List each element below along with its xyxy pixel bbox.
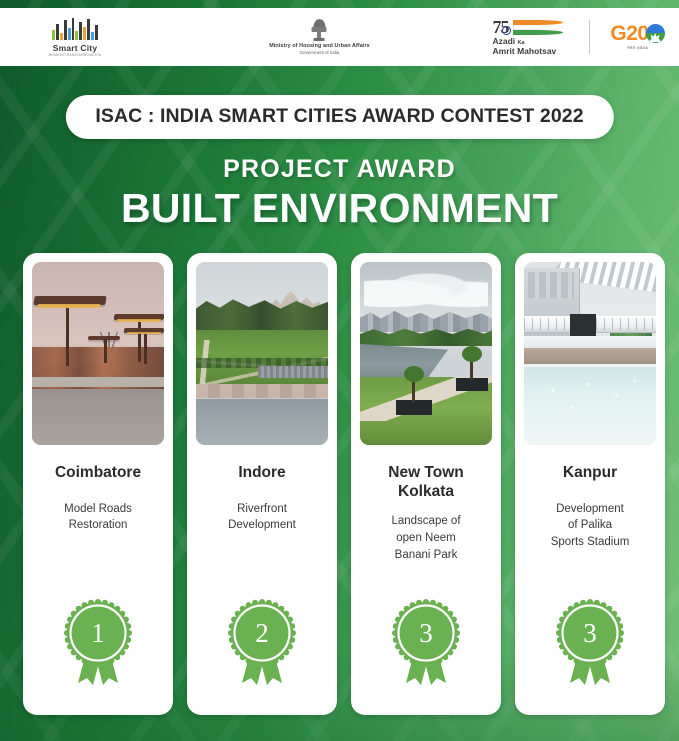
winner-card-list: Coimbatore Model Roads Restoration xyxy=(23,253,665,715)
award-category-title: BUILT ENVIRONMENT xyxy=(0,185,679,232)
winner-project-description: Development of Palika Sports Stadium xyxy=(547,501,634,551)
winner-project-description: Model Roads Restoration xyxy=(60,501,136,534)
g20-wordmark: G20 xyxy=(610,23,648,44)
ashoka-chakra-icon xyxy=(502,26,511,35)
smart-city-mission-logo: Smart City MISSION TRANSFORM-NATION xyxy=(0,18,150,57)
header-logo-bar: Smart City MISSION TRANSFORM-NATION Mini… xyxy=(0,8,679,66)
winner-city-name: Indore xyxy=(238,464,285,483)
azadi-ka-amrit-mahotsav-logo: 75 Azadi Ka Amrit Mahotsav xyxy=(493,18,579,57)
award-title-block: PROJECT AWARD BUILT ENVIRONMENT xyxy=(0,155,679,232)
contest-title-text: ISAC : INDIA SMART CITIES AWARD CONTEST … xyxy=(95,105,583,128)
azadi-label: Azadi xyxy=(493,36,516,46)
smart-city-icon xyxy=(52,18,98,42)
ministry-name: Ministry of Housing and Urban Affairs xyxy=(269,43,370,49)
tricolour-flag-icon xyxy=(513,19,563,36)
logo-divider xyxy=(589,20,590,54)
right-logo-group: 75 Azadi Ka Amrit Mahotsav xyxy=(489,18,679,57)
mahotsav-label: Mahotsav xyxy=(517,46,556,56)
rank-badge: 1 xyxy=(62,599,134,685)
smart-city-logo-title: Smart City xyxy=(53,43,98,53)
award-kicker: PROJECT AWARD xyxy=(0,155,679,184)
winner-city-name: New Town Kolkata xyxy=(388,464,464,501)
g20-india-logo: G20 भारत INDIA xyxy=(600,23,676,51)
winner-city-name: Kanpur xyxy=(563,464,617,483)
rank-badge: 3 xyxy=(554,599,626,685)
winner-card[interactable]: Coimbatore Model Roads Restoration xyxy=(23,253,173,715)
winner-city-name: Coimbatore xyxy=(55,464,141,483)
coimbatore-model-road-photo xyxy=(32,262,164,445)
rank-number: 3 xyxy=(390,613,462,653)
ashoka-emblem-icon xyxy=(311,19,328,41)
indore-riverfront-photo xyxy=(196,262,328,445)
smart-city-logo-subtitle: MISSION TRANSFORM-NATION xyxy=(49,53,102,57)
contest-title-pill: ISAC : INDIA SMART CITIES AWARD CONTEST … xyxy=(65,95,613,139)
winner-project-description: Riverfront Development xyxy=(224,501,300,534)
ka-label: Ka xyxy=(518,40,525,46)
winner-card[interactable]: New Town Kolkata Landscape of open Neem … xyxy=(351,253,501,715)
g20-subtitle: भारत INDIA xyxy=(627,45,648,51)
g20-lotus-icon xyxy=(646,24,665,43)
rank-badge: 3 xyxy=(390,599,462,685)
winner-card[interactable]: Indore Riverfront Development 2 xyxy=(187,253,337,715)
rank-badge: 2 xyxy=(226,599,298,685)
winner-card[interactable]: Kanpur Development of Palika Sports Stad… xyxy=(515,253,665,715)
rank-number: 3 xyxy=(554,613,626,653)
award-poster: Smart City MISSION TRANSFORM-NATION Mini… xyxy=(0,0,679,741)
amrit-label: Amrit xyxy=(493,46,515,56)
new-town-kolkata-neem-banani-park-photo xyxy=(360,262,492,445)
kanpur-palika-sports-stadium-photo xyxy=(524,262,656,445)
rank-number: 1 xyxy=(62,613,134,653)
rank-number: 2 xyxy=(226,613,298,653)
ministry-of-housing-logo: Ministry of Housing and Urban Affairs Go… xyxy=(150,19,489,55)
government-of-india-label: Government of India xyxy=(300,50,340,55)
winner-project-description: Landscape of open Neem Banani Park xyxy=(387,513,464,563)
